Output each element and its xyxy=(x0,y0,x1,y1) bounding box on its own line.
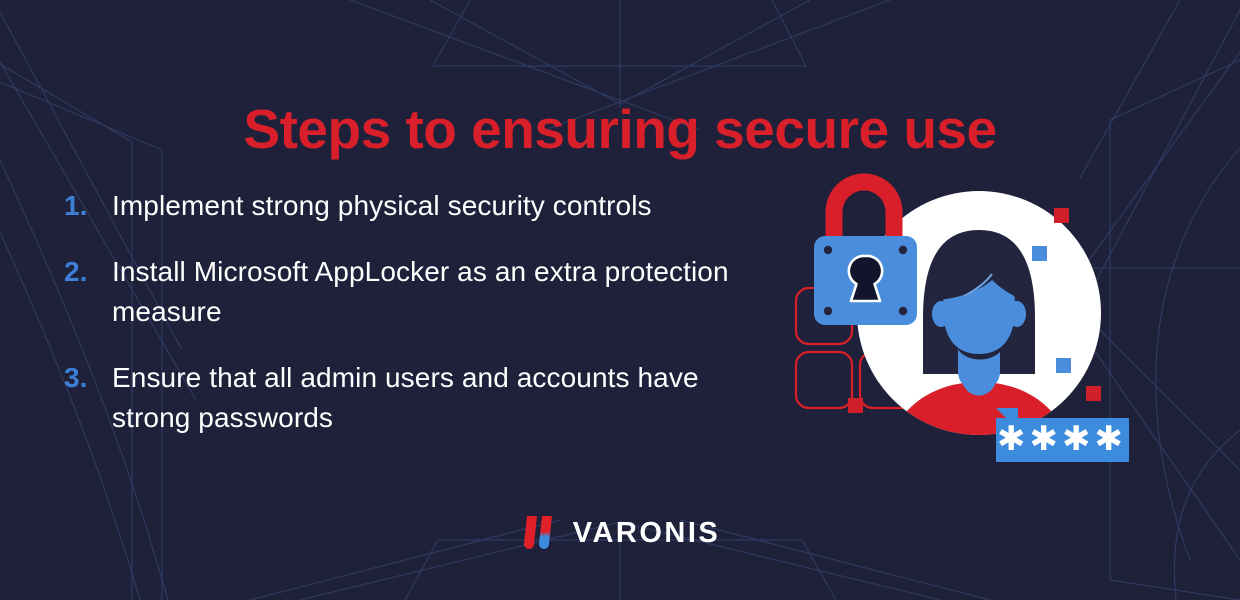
slide-canvas: Steps to ensuring secure use 1. Implemen… xyxy=(0,0,1240,600)
list-item-text: Install Microsoft AppLocker as an extra … xyxy=(112,252,784,332)
list-item: 2. Install Microsoft AppLocker as an ext… xyxy=(64,252,784,332)
list-item-number: 3. xyxy=(64,358,112,398)
page-title: Steps to ensuring secure use xyxy=(0,99,1240,160)
list-item-number: 2. xyxy=(64,252,112,292)
list-item: 3. Ensure that all admin users and accou… xyxy=(64,358,784,438)
list-item: 1. Implement strong physical security co… xyxy=(64,186,784,226)
list-item-text: Ensure that all admin users and accounts… xyxy=(112,358,784,438)
varonis-logo-mark xyxy=(520,514,564,552)
password-masked-text: ✱✱✱✱ xyxy=(997,419,1127,459)
password-field-bubble: ✱✱✱✱ xyxy=(996,408,1129,462)
list-item-number: 1. xyxy=(64,186,112,226)
varonis-logo-text: VARONIS xyxy=(573,519,720,548)
varonis-logo: VARONIS xyxy=(0,514,1240,552)
padlock-icon xyxy=(814,182,917,325)
security-illustration: ✱✱✱✱ xyxy=(786,168,1136,488)
steps-list: 1. Implement strong physical security co… xyxy=(64,186,784,464)
keyhole-icon xyxy=(849,256,882,301)
list-item-text: Implement strong physical security contr… xyxy=(112,186,784,226)
